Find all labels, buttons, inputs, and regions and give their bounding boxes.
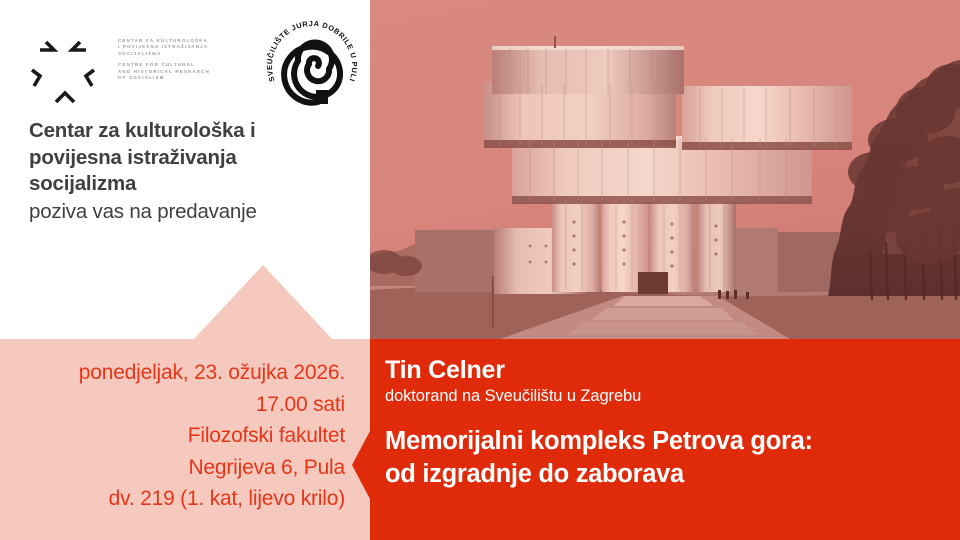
event-detail-room: dv. 219 (1. kat, lijevo krilo) [15, 483, 345, 515]
centre-caption-en: CENTRE FOR CULTURAL AND HISTORICAL RESEA… [118, 62, 258, 81]
invitation-title-line-3: socijalizma [29, 171, 359, 198]
event-details-text: ponedjeljak, 23. ožujka 2026. 17.00 sati… [15, 357, 345, 515]
spiral-seal-logo-icon: SVEUČILIŠTE JURJA DOBRILE U PULI [266, 20, 358, 112]
invitation-title-line-2: povijesna istraživanja [29, 145, 359, 172]
centre-logo-caption: CENTAR ZA KULTUROLOŠKA I POVIJESNA ISTRA… [118, 38, 258, 81]
lecture-poster: CENTAR ZA KULTUROLOŠKA I POVIJESNA ISTRA… [0, 0, 960, 540]
monument-photo-illustration [370, 0, 960, 339]
speaker-name: Tin Celner [385, 356, 945, 385]
invitation-block: Centar za kulturološka i povijesna istra… [29, 118, 359, 226]
invitation-subtitle: poziva vas na predavanje [29, 198, 359, 226]
lecture-content: Tin Celner doktorand na Sveučilištu u Za… [385, 356, 945, 491]
speaker-affiliation: doktorand na Sveučilištu u Zagrebu [385, 386, 945, 407]
logos-row: CENTAR ZA KULTUROLOŠKA I POVIJESNA ISTRA… [24, 20, 354, 115]
event-detail-address: Negrijeva 6, Pula [15, 452, 345, 484]
invitation-title-line-1: Centar za kulturološka i [29, 118, 359, 145]
svg-text:SVEUČILIŠTE JURJA DOBRILE U PU: SVEUČILIŠTE JURJA DOBRILE U PULI [266, 20, 358, 83]
pink-triangle-accent [193, 265, 333, 340]
abstract-bracket-circle-mark-icon [24, 24, 108, 112]
lecture-title: Memorijalni kompleks Petrova gora: od iz… [385, 425, 945, 491]
lecture-block: Tin Celner doktorand na Sveučilištu u Za… [352, 339, 960, 540]
seal-circular-text: SVEUČILIŠTE JURJA DOBRILE U PULI [266, 20, 358, 83]
monument-photo [370, 0, 960, 339]
event-details-block: ponedjeljak, 23. ožujka 2026. 17.00 sati… [0, 339, 370, 540]
event-detail-date: ponedjeljak, 23. ožujka 2026. [15, 357, 345, 389]
lecture-title-line-1: Memorijalni kompleks Petrova gora: [385, 425, 945, 458]
lecture-title-line-2: od izgradnje do zaborava [385, 458, 945, 491]
event-detail-time: 17.00 sati [15, 389, 345, 421]
centre-caption-en-line-3: OF SOCIALISM [118, 75, 258, 81]
centre-caption-hr-line-3: SOCIJALIZMA [118, 51, 258, 57]
centre-caption-hr: CENTAR ZA KULTUROLOŠKA I POVIJESNA ISTRA… [118, 38, 258, 57]
event-detail-venue: Filozofski fakultet [15, 420, 345, 452]
